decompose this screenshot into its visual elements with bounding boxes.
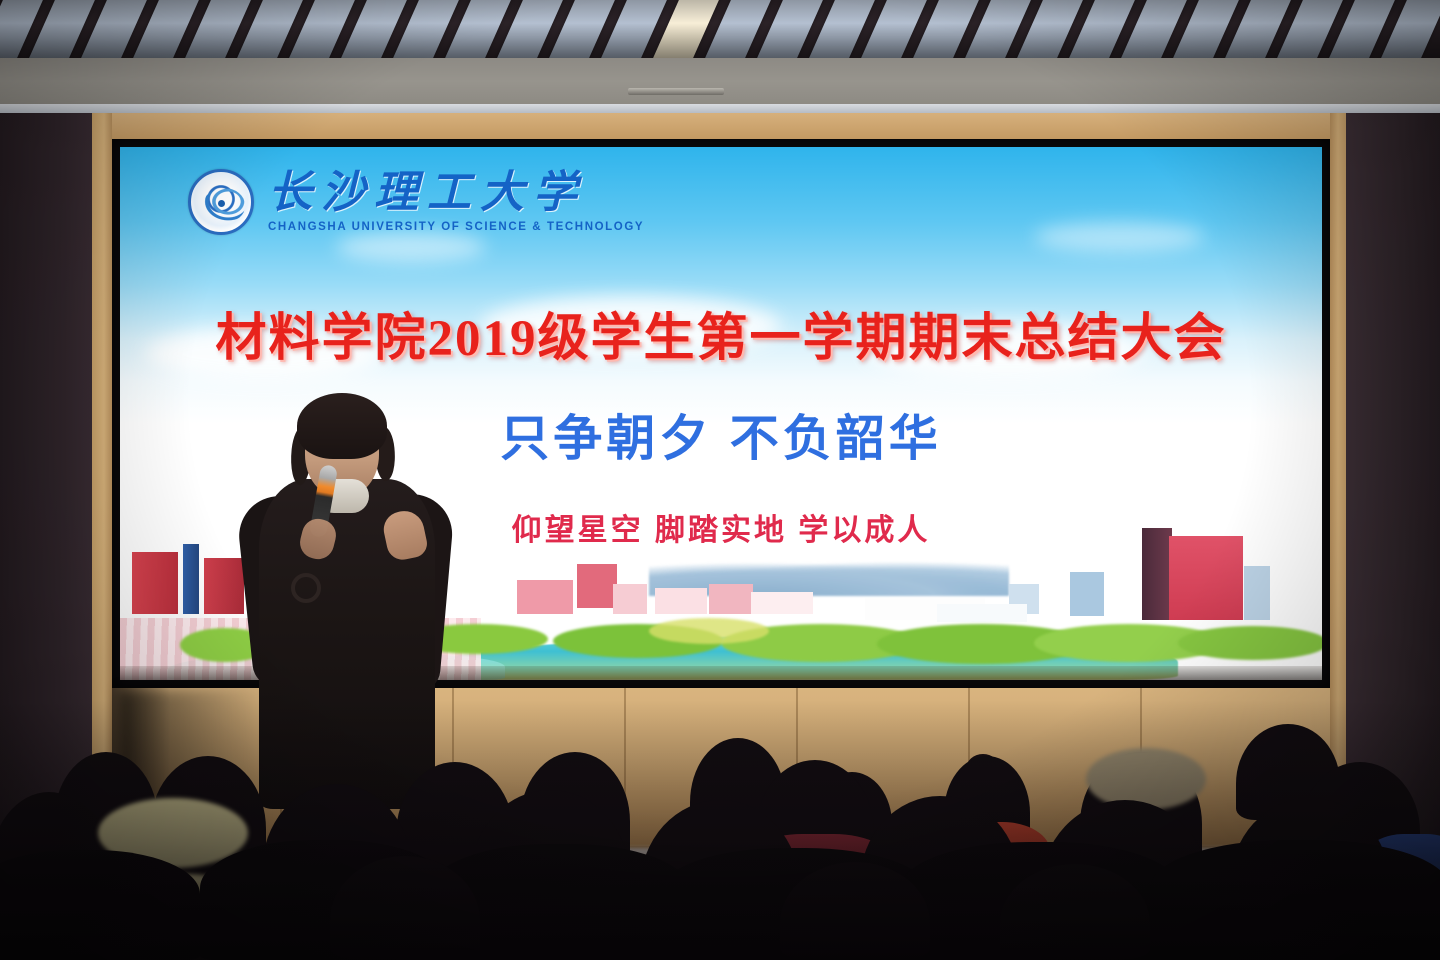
ceiling-slats xyxy=(0,0,1440,58)
university-name-en: CHANGSHA UNIVERSITY OF SCIENCE & TECHNOL… xyxy=(268,221,644,233)
university-logo: 长沙理工大学 CHANGSHA UNIVERSITY OF SCIENCE & … xyxy=(188,169,644,235)
wood-trim-top xyxy=(112,113,1330,139)
slide-title: 材料学院2019级学生第一学期期末总结大会 xyxy=(120,296,1322,370)
student-audience xyxy=(0,700,1440,960)
university-name-cn: 长沙理工大学 xyxy=(268,171,644,215)
air-vent xyxy=(628,88,724,95)
cove-light-strip xyxy=(0,104,1440,113)
university-seal-icon xyxy=(188,169,254,235)
speaker-hair xyxy=(297,393,387,459)
ceiling-soffit xyxy=(0,58,1440,110)
auditorium-photo: 长沙理工大学 CHANGSHA UNIVERSITY OF SCIENCE & … xyxy=(0,0,1440,960)
